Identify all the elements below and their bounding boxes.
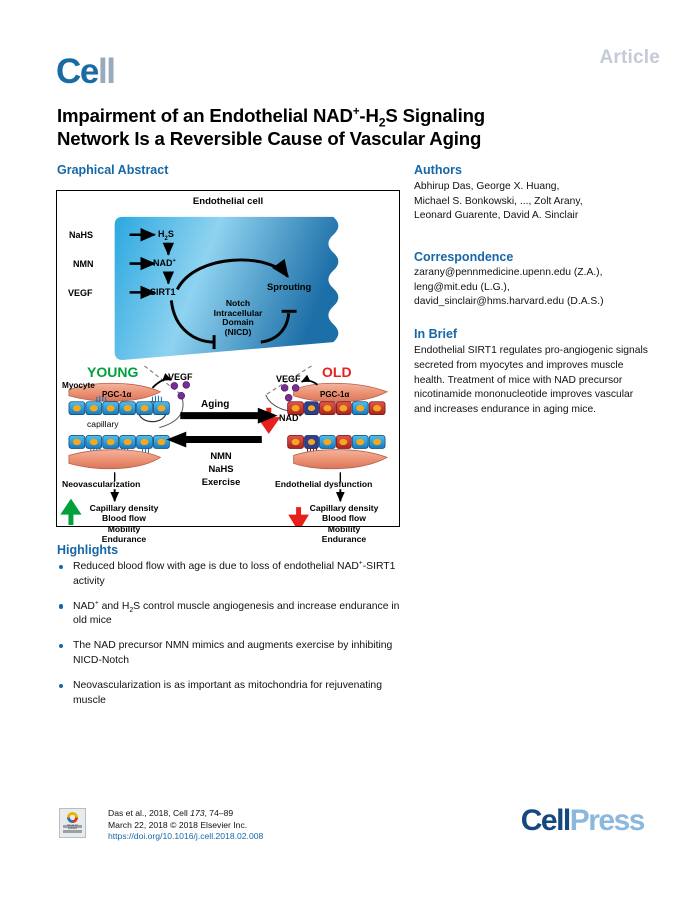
section-heading-highlights: Highlights [57,543,118,557]
highlight-text: The NAD precursor NMN mimics and augment… [73,640,392,666]
cellpress-press: Press [570,804,644,837]
highlights-list: Reduced blood flow with age is due to lo… [57,560,407,719]
endothelial-cell-shape [115,217,339,360]
authors-list: Abhirup Das, George X. Huang, Michael S.… [414,180,649,224]
trend-up-arrow-young [65,503,77,525]
title-line-2: Network Is a Reversible Cause of Vascula… [57,128,481,149]
author-line-3: Leonard Guarente, David A. Sinclair [414,209,649,224]
highlight-item: NAD+ and H2S control muscle angiogenesis… [57,600,407,629]
vegf-particles-young [171,381,190,399]
citation-line-2: March 22, 2018 © 2018 Elsevier Inc. [108,820,438,832]
highlight-text-prefix: Reduced blood flow with age is due to lo… [73,561,359,572]
highlight-item: Neovascularization is as important as mi… [57,679,407,708]
citation-block: Das et al., 2018, Cell 173, 74–89 March … [108,808,438,843]
in-brief-text: Endothelial SIRT1 regulates pro-angiogen… [414,344,649,418]
highlight-text-mid: and H [99,601,130,612]
capillary-old-top [288,402,385,415]
crossmark-label: Check for updates [63,824,82,830]
highlight-text: Neovascularization is as important as mi… [73,680,382,706]
author-line-2: Michael S. Bonkowski, ..., Zolt Arany, [414,195,649,210]
myocyte-old-top [294,383,387,402]
cell-press-logo: CellPress [521,806,644,836]
capillary-old-bottom [288,436,385,449]
myocyte-young-top [69,383,160,401]
old-metric-4: Endurance [289,534,399,544]
title-part-a: Impairment of an Endothelial NAD [57,105,353,126]
correspondence-email-3[interactable]: david_sinclair@hms.harvard.edu (D.A.S.) [414,295,649,310]
cell-logo-main: Ce [56,52,98,91]
myocyte-young-bottom [69,450,160,469]
title-part-c: S Signaling [385,105,485,126]
highlight-item: The NAD precursor NMN mimics and augment… [57,639,407,668]
citation-line-1: Das et al., 2018, Cell 173, 74–89 [108,808,438,820]
capillary-young-top [69,402,169,415]
cell-journal-logo: Cell [56,54,115,89]
cellpress-cell: Cell [521,804,570,837]
highlight-item: Reduced blood flow with age is due to lo… [57,560,407,589]
crossmark-icon [67,812,78,823]
bullet-icon [59,604,63,608]
citation-pages: , 74–89 [205,808,234,818]
crossmark-badge[interactable]: Check for updates [59,808,86,838]
highlight-text-prefix: NAD [73,601,95,612]
capillary-young-bottom [69,436,169,449]
cell-logo-bars: ll [98,52,115,91]
page-title: Impairment of an Endothelial NAD+-H2S Si… [57,104,637,150]
citation-volume: 173 [190,808,204,818]
myocyte-old-bottom [294,450,387,469]
title-part-b: -H [359,105,378,126]
graphical-abstract-figure: Endothelial cell NaHS NMN VEGF H2S NAD+ … [56,190,400,527]
section-heading-in-brief: In Brief [414,327,457,341]
correspondence-list: zarany@pennmedicine.upenn.edu (Z.A.), le… [414,266,649,310]
section-heading-correspondence: Correspondence [414,250,513,264]
page-root: Article Cell Impairment of an Endothelia… [0,0,700,900]
trend-down-arrow-old [293,507,305,526]
arrow-vegf-secretion-young [152,379,171,388]
author-line-1: Abhirup Das, George X. Huang, [414,180,649,195]
doi-link[interactable]: https://doi.org/10.1016/j.cell.2018.02.0… [108,831,438,843]
citation-prefix: Das et al., 2018, Cell [108,808,190,818]
section-heading-graphical-abstract: Graphical Abstract [57,163,168,177]
correspondence-email-1[interactable]: zarany@pennmedicine.upenn.edu (Z.A.), [414,266,649,281]
graphical-abstract-svg [57,191,399,526]
bullet-icon [59,565,63,569]
section-heading-authors: Authors [414,163,462,177]
crossmark-bar-bottom [63,830,82,833]
bullet-icon [59,644,63,648]
bullet-icon [59,684,63,688]
correspondence-email-2[interactable]: leng@mit.edu (L.G.), [414,281,649,296]
